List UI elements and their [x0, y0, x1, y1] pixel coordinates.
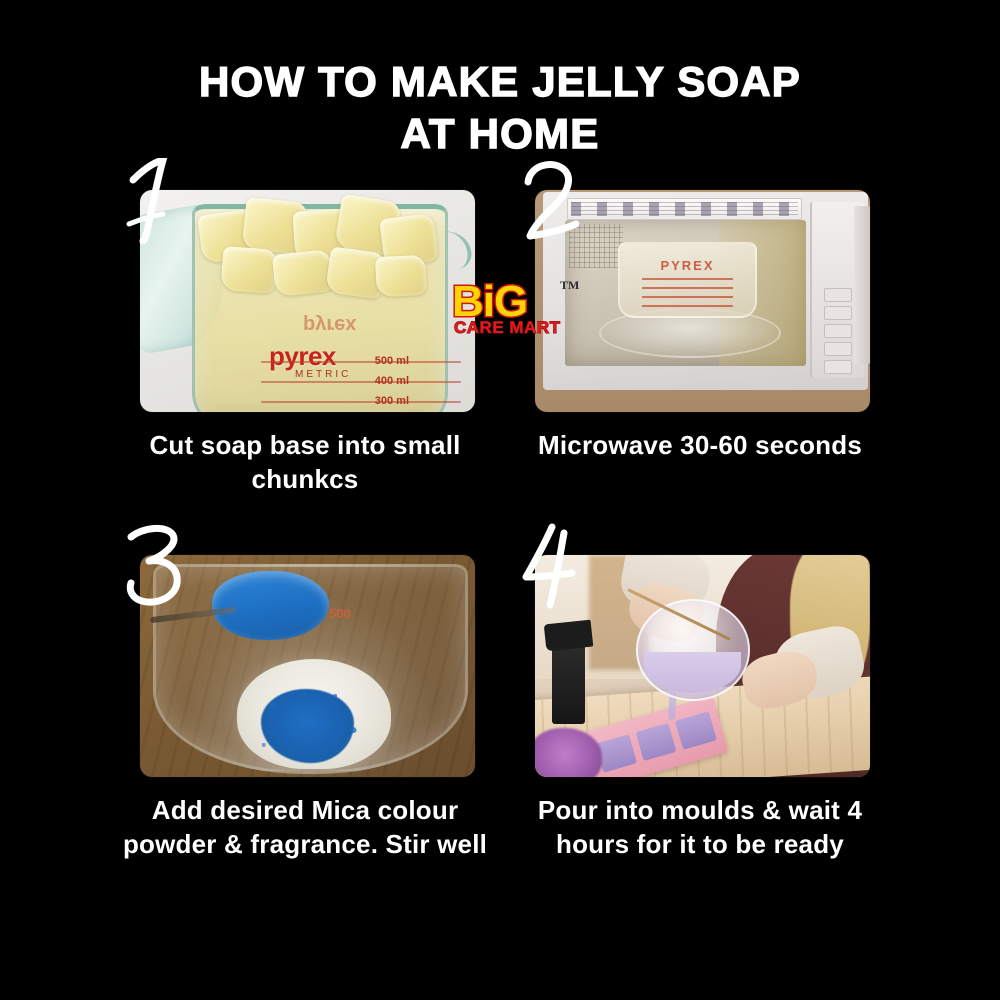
step-1-pyrex-ghost: pyrex [303, 313, 356, 336]
step-1-pyrex-label: pyrex [269, 341, 336, 372]
step-1-caption: Cut soap base into small chunkcs [105, 428, 505, 496]
title-line-2: AT HOME [0, 108, 1000, 160]
step-3-caption: Add desired Mica colour powder & fragran… [105, 793, 505, 861]
step-2-pyrex-label: PYREX [660, 258, 714, 273]
poster-title: HOW TO MAKE JELLY SOAP AT HOME [0, 56, 1000, 160]
step-1-metric-label: METRIC [295, 369, 351, 380]
infographic-poster: HOW TO MAKE JELLY SOAP AT HOME pyrex [0, 0, 1000, 1000]
step-1-tick-300: 300 ml [375, 395, 409, 407]
step-1-tick-400: 400 ml [375, 375, 409, 387]
step-4-photo [535, 555, 870, 777]
step-2-caption: Microwave 30-60 seconds [500, 428, 900, 462]
step-4-caption: Pour into moulds & wait 4 hours for it t… [500, 793, 900, 861]
step-3-photo: 500 [140, 555, 475, 777]
step-3-cup-mark: 500 [329, 605, 351, 621]
title-line-1: HOW TO MAKE JELLY SOAP [0, 56, 1000, 108]
step-2-photo: PYREX [535, 190, 870, 412]
steps-grid: pyrex pyrex pyrex METRIC 500 ml 400 ml 3… [0, 160, 1000, 960]
step-1-photo: pyrex pyrex pyrex METRIC 500 ml 400 ml 3… [140, 190, 475, 412]
step-1-tick-500: 500 ml [375, 355, 409, 367]
